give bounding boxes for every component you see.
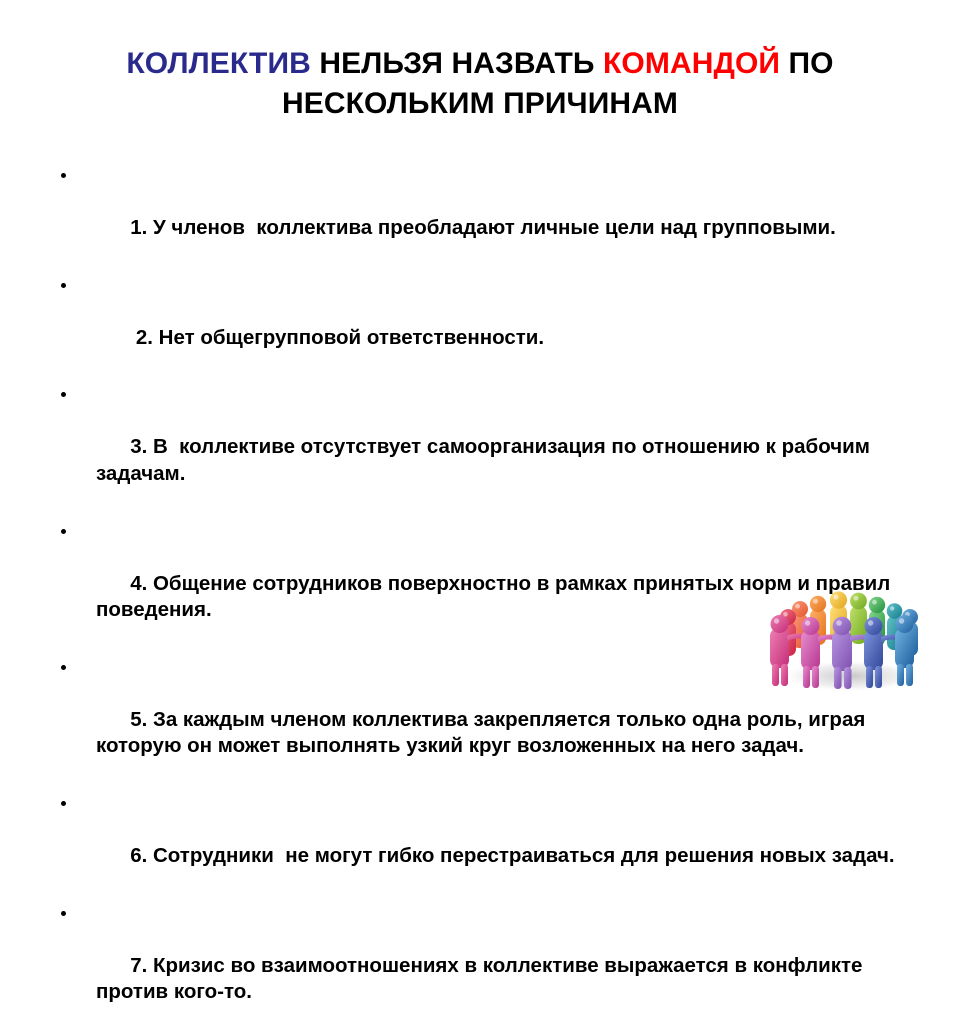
- title-word-komandoy: КОМАНДОЙ: [603, 47, 788, 80]
- bullet-dot-icon: [61, 173, 66, 178]
- list-item: 6. Сотрудники не могут гибко перестраива…: [52, 790, 922, 897]
- list-item: 3. В коллективе отсутствует самоорганиза…: [52, 381, 922, 514]
- list-item-text: 2. Нет общегрупповой ответственности.: [130, 326, 544, 349]
- title-word-kollektiv: КОЛЛЕКТИВ: [126, 47, 319, 80]
- slide-root: КОЛЛЕКТИВ НЕЛЬЗЯ НАЗВАТЬ КОМАНДОЙ ПО НЕС…: [0, 0, 960, 720]
- list-item-text: 1. У членов коллектива преобладают личны…: [130, 216, 836, 239]
- bullet-dot-icon: [61, 392, 66, 397]
- bullet-dot-icon: [61, 801, 66, 806]
- list-item-text: 3. В коллективе отсутствует самоорганиза…: [96, 435, 876, 485]
- bullet-dot-icon: [61, 911, 66, 916]
- list-item-text: 7. Кризис во взаимоотношениях в коллекти…: [96, 954, 868, 1004]
- list-item: 7. Кризис во взаимоотношениях в коллекти…: [52, 899, 922, 1032]
- list-item-text: 5. За каждым членом коллектива закрепляе…: [96, 708, 871, 758]
- bullet-dot-icon: [61, 283, 66, 288]
- title-words-nelzya-nazvat: НЕЛЬЗЯ НАЗВАТЬ: [319, 47, 603, 80]
- team-circle-people-icon: [762, 578, 940, 694]
- page-title: КОЛЛЕКТИВ НЕЛЬЗЯ НАЗВАТЬ КОМАНДОЙ ПО НЕС…: [60, 44, 900, 123]
- list-item-text: 6. Сотрудники не могут гибко перестраива…: [130, 844, 894, 867]
- list-item: 2. Нет общегрупповой ответственности.: [52, 272, 922, 379]
- bullet-dot-icon: [61, 665, 66, 670]
- bullet-dot-icon: [61, 529, 66, 534]
- list-item: 1. У членов коллектива преобладают личны…: [52, 162, 922, 269]
